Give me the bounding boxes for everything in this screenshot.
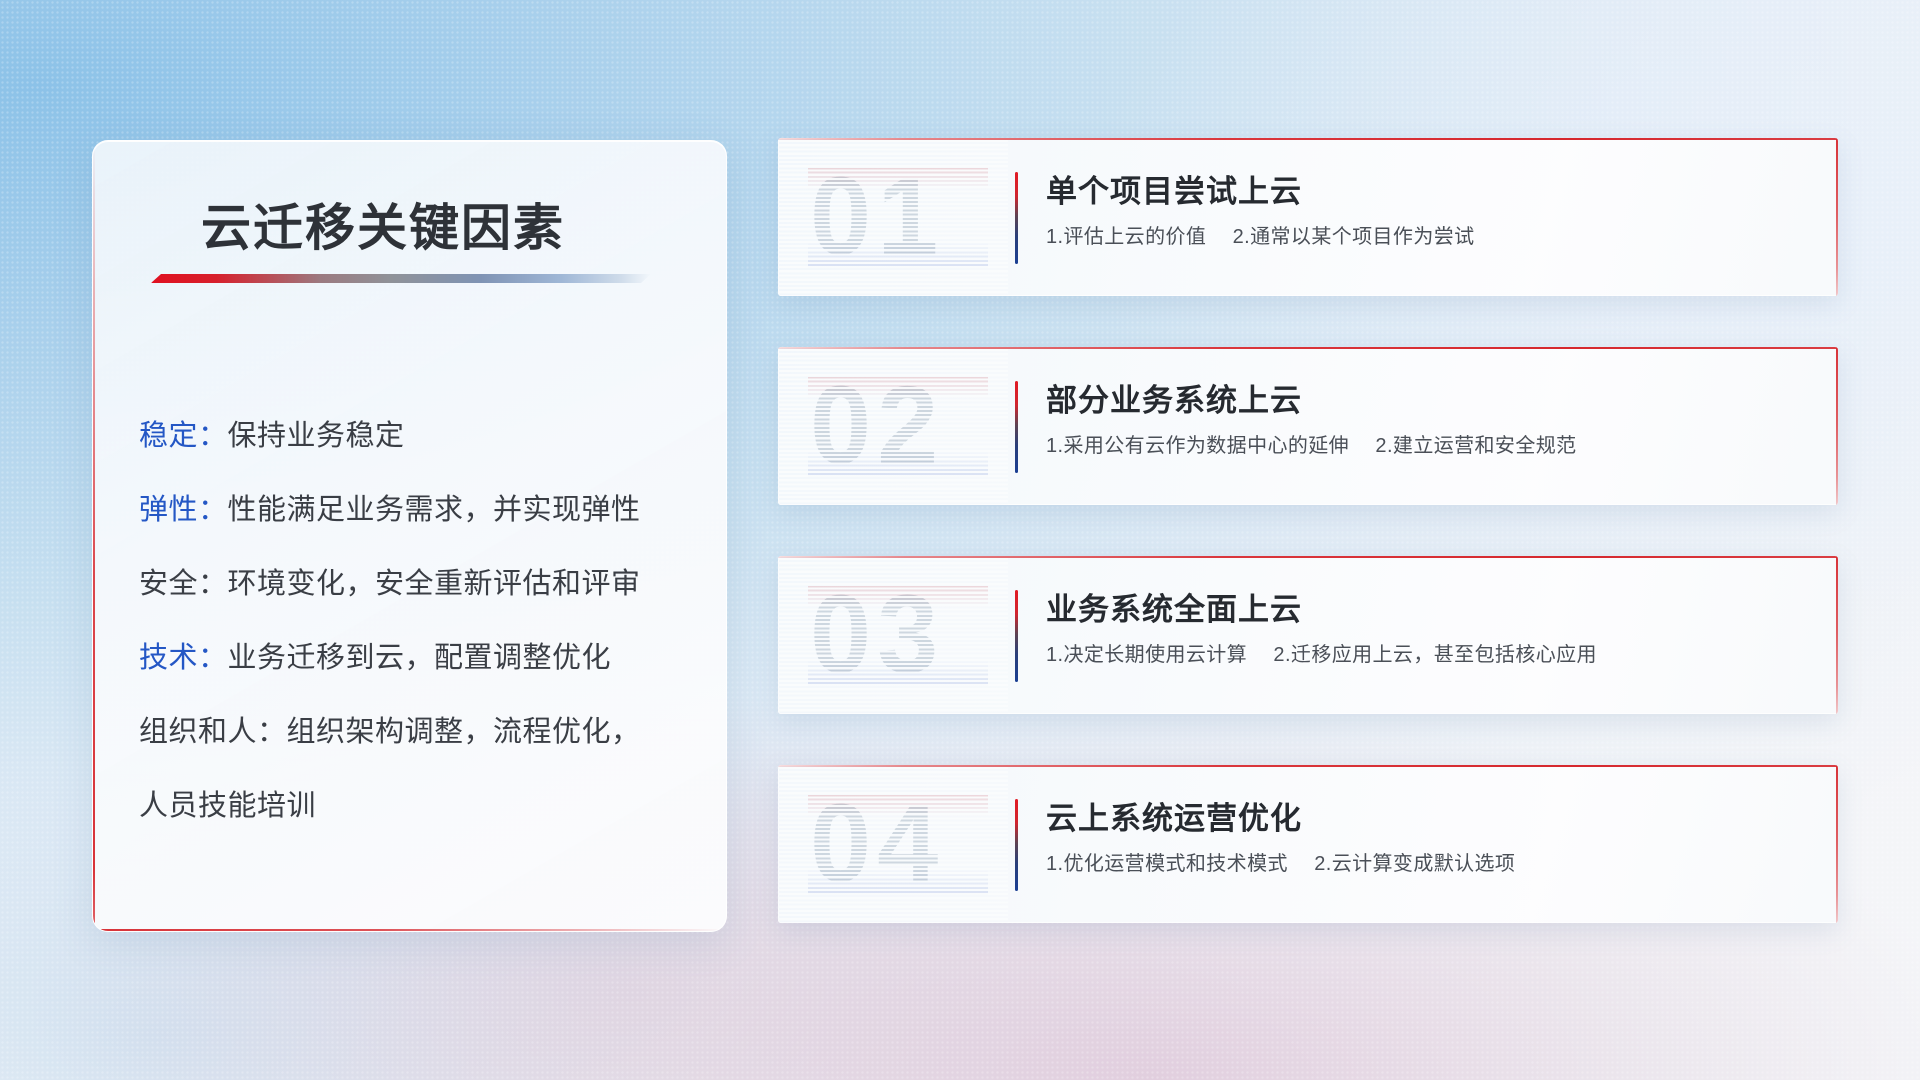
stage-subtitle: 1.优化运营模式和技术模式 2.云计算变成默认选项 — [1046, 847, 1515, 876]
stage-number: 04 — [810, 777, 944, 911]
factor-label: 组织和人： — [139, 716, 287, 748]
factor-text: 性能满足业务需求，并实现弹性 — [228, 494, 641, 526]
factor-label: 技术： — [139, 642, 228, 674]
stage-title: 云上系统运营优化 — [1046, 793, 1302, 838]
factor-row: 技术：业务迁移到云，配置调整优化 — [139, 621, 700, 695]
factor-label: 弹性： — [139, 494, 228, 526]
factor-row: 组织和人：组织架构调整，流程优化， — [139, 695, 700, 769]
stage-number-graphic: 03 — [778, 556, 1008, 714]
title-underline-accent — [151, 274, 651, 283]
stage-number: 01 — [810, 150, 944, 284]
factor-text: 组织架构调整，流程优化， — [287, 716, 641, 748]
factor-text: 保持业务稳定 — [228, 420, 405, 452]
stage-accent-bar — [1015, 381, 1018, 473]
factor-text: 人员技能培训 — [139, 790, 316, 822]
stage-number-graphic: 01 — [778, 138, 1008, 296]
factor-row: 安全：环境变化，安全重新评估和评审 — [139, 547, 700, 621]
stage-title: 部分业务系统上云 — [1046, 375, 1302, 420]
stage-card[interactable]: 04云上系统运营优化1.优化运营模式和技术模式 2.云计算变成默认选项 — [778, 765, 1838, 923]
stage-subtitle: 1.决定长期使用云计算 2.迁移应用上云，甚至包括核心应用 — [1046, 638, 1597, 667]
stage-number: 03 — [810, 568, 944, 702]
page-title: 云迁移关键因素 — [201, 188, 565, 260]
factor-row: 人员技能培训 — [139, 769, 700, 843]
migration-stage-card-list: 01单个项目尝试上云1.评估上云的价值 2.通常以某个项目作为尝试02部分业务系… — [778, 138, 1838, 974]
key-factors-panel: 云迁移关键因素 稳定：保持业务稳定弹性：性能满足业务需求，并实现弹性安全：环境变… — [92, 140, 727, 932]
stage-number-graphic: 02 — [778, 347, 1008, 505]
stage-card[interactable]: 01单个项目尝试上云1.评估上云的价值 2.通常以某个项目作为尝试 — [778, 138, 1838, 296]
stage-card[interactable]: 03业务系统全面上云1.决定长期使用云计算 2.迁移应用上云，甚至包括核心应用 — [778, 556, 1838, 714]
stage-accent-bar — [1015, 799, 1018, 891]
stage-number-graphic: 04 — [778, 765, 1008, 923]
factor-label: 安全： — [139, 568, 228, 600]
factor-list: 稳定：保持业务稳定弹性：性能满足业务需求，并实现弹性安全：环境变化，安全重新评估… — [139, 399, 700, 843]
stage-accent-bar — [1015, 590, 1018, 682]
stage-subtitle: 1.评估上云的价值 2.通常以某个项目作为尝试 — [1046, 220, 1475, 249]
factor-row: 稳定：保持业务稳定 — [139, 399, 700, 473]
stage-accent-bar — [1015, 172, 1018, 264]
stage-title: 单个项目尝试上云 — [1046, 166, 1302, 211]
factor-label: 稳定： — [139, 420, 228, 452]
factor-text: 环境变化，安全重新评估和评审 — [228, 568, 641, 600]
stage-number: 02 — [810, 359, 944, 493]
factor-row: 弹性：性能满足业务需求，并实现弹性 — [139, 473, 700, 547]
stage-subtitle: 1.采用公有云作为数据中心的延伸 2.建立运营和安全规范 — [1046, 429, 1577, 458]
stage-title: 业务系统全面上云 — [1046, 584, 1302, 629]
factor-text: 业务迁移到云，配置调整优化 — [228, 642, 612, 674]
stage-card[interactable]: 02部分业务系统上云1.采用公有云作为数据中心的延伸 2.建立运营和安全规范 — [778, 347, 1838, 505]
